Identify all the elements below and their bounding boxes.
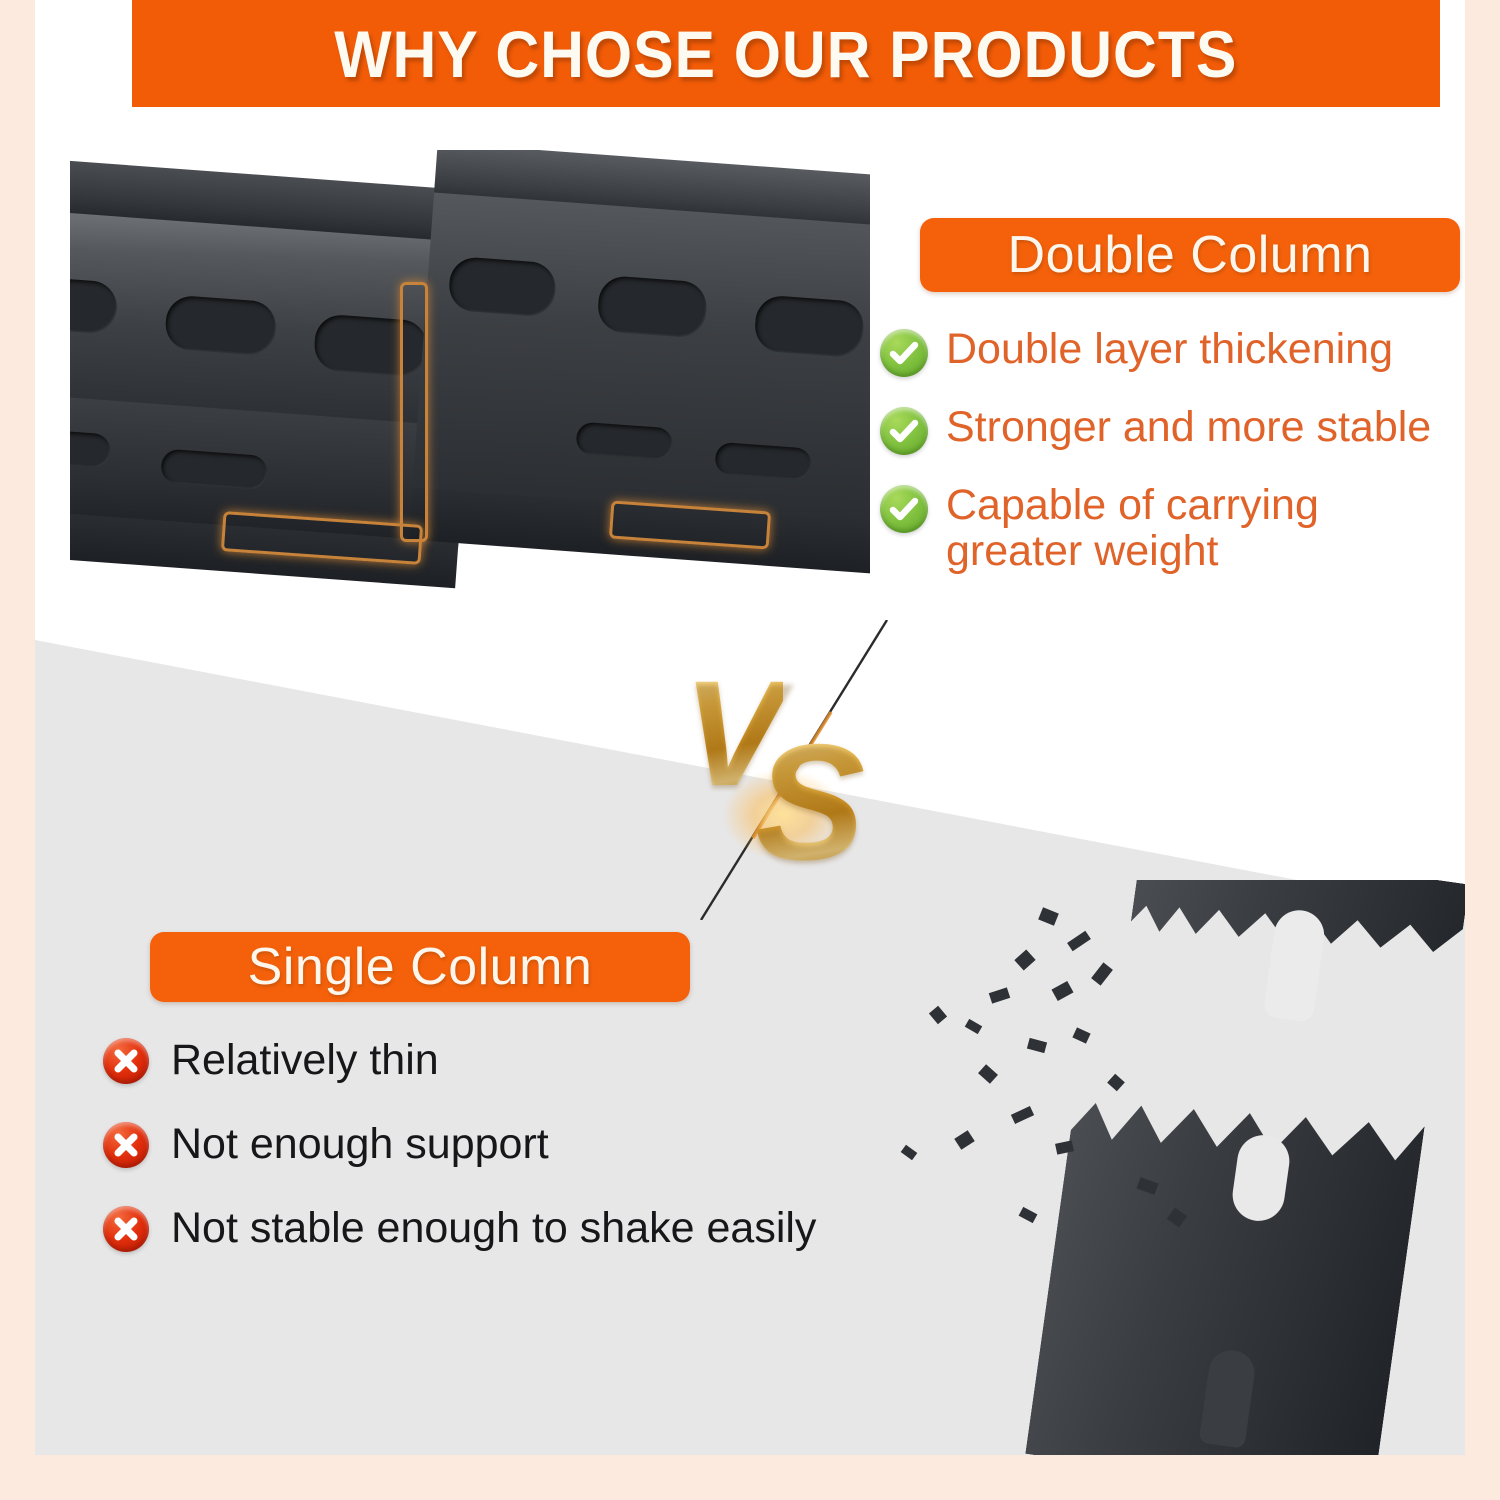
badge-single-column: Single Column xyxy=(150,932,690,1002)
debris-fragment xyxy=(1072,1027,1090,1043)
debris-fragment xyxy=(1038,907,1059,925)
border-left xyxy=(0,0,35,1500)
debris-fragment xyxy=(1019,1207,1038,1223)
debris-fragment xyxy=(978,1064,998,1084)
badge-double-column-label: Double Column xyxy=(1008,225,1373,285)
cons-item-text: Relatively thin xyxy=(171,1038,439,1084)
badge-single-column-label: Single Column xyxy=(248,937,593,997)
cons-item-text: Not stable enough to shake easily xyxy=(171,1206,816,1252)
infographic-canvas: WHY CHOSE OUR PRODUCTS Double Column Dou… xyxy=(0,0,1500,1500)
debris-fragment xyxy=(1027,1038,1047,1053)
debris-fragment xyxy=(1051,981,1073,1001)
pros-item-text: Stronger and more stable xyxy=(946,403,1431,451)
debris-fragment xyxy=(954,1130,974,1150)
cross-circle-icon xyxy=(103,1122,149,1168)
pros-feature-list: Double layer thickening Stronger and mor… xyxy=(880,325,1465,600)
check-circle-icon xyxy=(880,485,928,533)
list-item: Double layer thickening xyxy=(880,325,1465,377)
header-banner: WHY CHOSE OUR PRODUCTS xyxy=(132,0,1440,107)
list-item: Capable of carrying greater weight xyxy=(880,481,1465,574)
debris-fragment xyxy=(1107,1074,1125,1092)
copper-highlight-vertical xyxy=(400,282,428,542)
page-title: WHY CHOSE OUR PRODUCTS xyxy=(334,16,1237,92)
cross-circle-icon xyxy=(103,1038,149,1084)
debris-fragment xyxy=(989,987,1010,1003)
debris-fragment xyxy=(1067,931,1091,952)
post-keyhole-slot xyxy=(1263,907,1328,1023)
border-right xyxy=(1465,0,1500,1500)
cons-item-text: Not enough support xyxy=(171,1122,549,1168)
debris-fragment xyxy=(901,1145,918,1161)
badge-double-column: Double Column xyxy=(920,218,1460,292)
list-item: Relatively thin xyxy=(103,1038,923,1084)
check-circle-icon xyxy=(880,329,928,377)
double-column-steel-beams-photo xyxy=(70,150,870,620)
debris-fragment xyxy=(929,1006,947,1024)
cons-feature-list: Relatively thin Not enough support Not s… xyxy=(103,1038,923,1290)
check-circle-icon xyxy=(880,407,928,455)
debris-fragment xyxy=(965,1019,982,1034)
list-item: Stronger and more stable xyxy=(880,403,1465,455)
cross-circle-icon xyxy=(103,1206,149,1252)
debris-fragment xyxy=(1014,949,1035,970)
debris-fragment xyxy=(1011,1106,1034,1124)
border-bottom xyxy=(0,1455,1500,1500)
list-item: Not enough support xyxy=(103,1122,923,1168)
list-item: Not stable enough to shake easily xyxy=(103,1206,923,1252)
content-plate: WHY CHOSE OUR PRODUCTS Double Column Dou… xyxy=(35,0,1465,1455)
pros-item-text: Double layer thickening xyxy=(946,325,1393,373)
versus-emblem: V S xyxy=(635,620,965,920)
debris-fragment xyxy=(1091,962,1113,985)
pros-item-text: Capable of carrying greater weight xyxy=(946,481,1376,574)
broken-single-column-post-photo xyxy=(870,880,1465,1455)
versus-letter-s: S xyxy=(755,720,865,885)
